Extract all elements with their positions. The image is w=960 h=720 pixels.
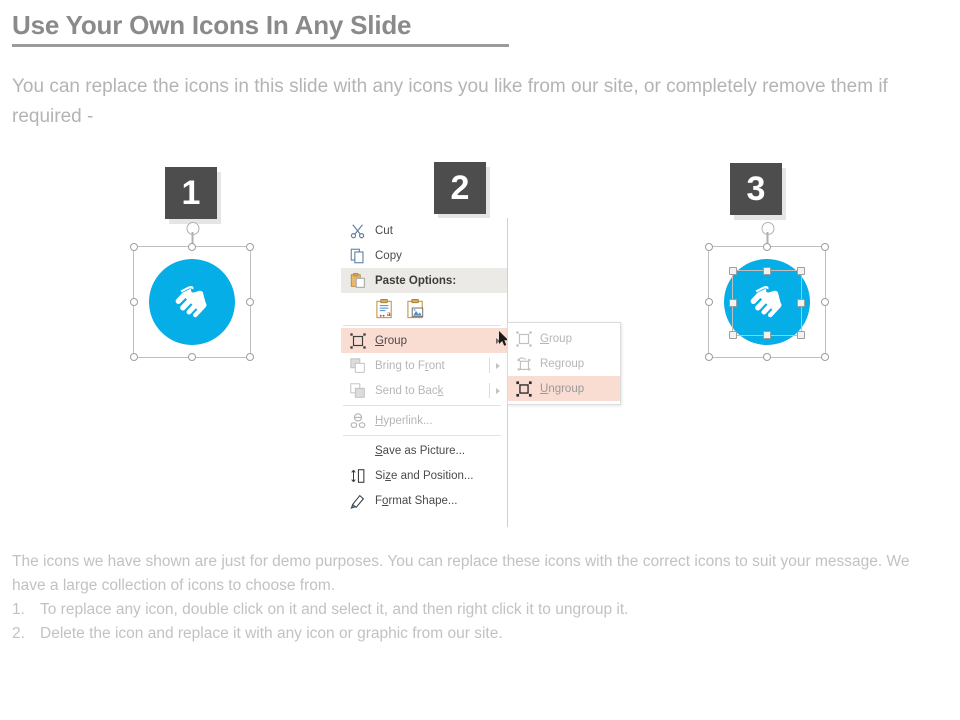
menu-item-paste-options[interactable]: Paste Options: xyxy=(341,268,507,293)
paste-keep-text-only-icon[interactable]: a xyxy=(375,298,396,319)
footer-list-number: 2. xyxy=(12,622,40,646)
footer-list-number: 1. xyxy=(12,598,40,622)
menu-item-bring-to-front[interactable]: Bring to Front xyxy=(341,353,507,378)
footer-list-text: Delete the icon and replace it with any … xyxy=(40,622,944,646)
footer-list-item: 1. To replace any icon, double click on … xyxy=(12,598,944,622)
selection-box-inner[interactable] xyxy=(732,270,802,336)
footer-paragraph: The icons we have shown are just for dem… xyxy=(12,550,944,598)
menu-divider xyxy=(343,325,501,326)
menu-item-label: Copy xyxy=(375,250,402,262)
resize-handle-bottom-center[interactable] xyxy=(188,353,196,361)
resize-handle-bottom-center[interactable] xyxy=(763,353,771,361)
resize-handle-top-left[interactable] xyxy=(130,243,138,251)
selection-box-outer[interactable] xyxy=(133,246,251,358)
menu-item-label: Bring to Front xyxy=(375,360,445,372)
step-badge-1: 1 xyxy=(165,167,217,219)
footer-notes: The icons we have shown are just for dem… xyxy=(12,550,944,646)
resize-handle-top-center[interactable] xyxy=(188,243,196,251)
menu-item-cut[interactable]: Cut xyxy=(341,218,507,243)
footer-list-item: 2. Delete the icon and replace it with a… xyxy=(12,622,944,646)
footer-list-text: To replace any icon, double click on it … xyxy=(40,598,944,622)
inner-handle-bottom-left[interactable] xyxy=(729,331,737,339)
title-underline xyxy=(12,44,509,47)
hyperlink-icon xyxy=(349,412,367,430)
resize-handle-bottom-right[interactable] xyxy=(246,353,254,361)
menu-item-send-to-back[interactable]: Send to Back xyxy=(341,378,507,403)
submenu-item-ungroup[interactable]: Ungroup xyxy=(508,376,620,401)
submenu-item-group[interactable]: Group xyxy=(508,326,620,351)
resize-handle-bottom-left[interactable] xyxy=(705,353,713,361)
group-icon xyxy=(349,332,367,350)
step-badge-3: 3 xyxy=(730,163,782,215)
context-menu[interactable]: Cut Copy Paste Options: xyxy=(341,218,508,527)
step-badge-2: 2 xyxy=(434,162,486,214)
menu-item-label: Paste Options: xyxy=(375,275,456,287)
rotation-handle-circle xyxy=(187,222,200,235)
resize-handle-middle-right[interactable] xyxy=(821,298,829,306)
submenu-arrow-icon xyxy=(496,363,500,369)
menu-item-label: Group xyxy=(375,335,407,347)
scissors-icon xyxy=(349,222,367,240)
page-subtitle: You can replace the icons in this slide … xyxy=(12,72,956,132)
group-submenu[interactable]: Group Regroup Ungroup xyxy=(507,322,621,405)
menu-item-label: Hyperlink... xyxy=(375,415,433,427)
resize-handle-top-center[interactable] xyxy=(763,243,771,251)
group-icon xyxy=(515,330,533,348)
menu-item-hyperlink[interactable]: Hyperlink... xyxy=(341,408,507,433)
icon-group-3[interactable] xyxy=(708,222,828,360)
submenu-arrow-icon xyxy=(496,388,500,394)
resize-handle-bottom-right[interactable] xyxy=(821,353,829,361)
resize-handle-middle-right[interactable] xyxy=(246,298,254,306)
resize-handle-middle-left[interactable] xyxy=(130,298,138,306)
inner-handle-bottom-right[interactable] xyxy=(797,331,805,339)
slide-canvas: Use Your Own Icons In Any Slide You can … xyxy=(0,0,960,720)
inner-handle-top-left[interactable] xyxy=(729,267,737,275)
svg-text:a: a xyxy=(387,309,391,318)
icon-group-1[interactable] xyxy=(133,222,253,360)
paste-picture-icon[interactable] xyxy=(406,298,427,319)
submenu-item-label: Group xyxy=(540,333,572,345)
menu-item-label: Size and Position... xyxy=(375,470,473,482)
inner-handle-middle-right[interactable] xyxy=(797,299,805,307)
send-to-back-icon xyxy=(349,382,367,400)
copy-icon xyxy=(349,247,367,265)
inner-handle-top-center[interactable] xyxy=(763,267,771,275)
size-position-icon xyxy=(349,467,367,485)
menu-item-label: Cut xyxy=(375,225,393,237)
paste-icon xyxy=(349,272,367,290)
menu-item-save-as-picture[interactable]: Save as Picture... xyxy=(341,438,507,463)
menu-item-label: Format Shape... xyxy=(375,495,457,507)
menu-item-separator xyxy=(489,358,490,373)
regroup-icon xyxy=(515,355,533,373)
resize-handle-top-left[interactable] xyxy=(705,243,713,251)
menu-item-copy[interactable]: Copy xyxy=(341,243,507,268)
menu-item-label: Save as Picture... xyxy=(375,445,465,457)
inner-handle-bottom-center[interactable] xyxy=(763,331,771,339)
page-title: Use Your Own Icons In Any Slide xyxy=(12,10,411,41)
submenu-item-label: Regroup xyxy=(540,358,584,370)
inner-handle-middle-left[interactable] xyxy=(729,299,737,307)
menu-divider xyxy=(343,405,501,406)
resize-handle-middle-left[interactable] xyxy=(705,298,713,306)
resize-handle-top-right[interactable] xyxy=(246,243,254,251)
submenu-item-regroup[interactable]: Regroup xyxy=(508,351,620,376)
paste-options-row[interactable]: a xyxy=(341,293,507,323)
menu-item-separator xyxy=(489,383,490,398)
resize-handle-bottom-left[interactable] xyxy=(130,353,138,361)
bring-to-front-icon xyxy=(349,357,367,375)
ungroup-icon xyxy=(515,380,533,398)
submenu-item-label: Ungroup xyxy=(540,383,584,395)
menu-item-label: Send to Back xyxy=(375,385,443,397)
inner-handle-top-right[interactable] xyxy=(797,267,805,275)
menu-item-group[interactable]: Group xyxy=(341,328,507,353)
menu-item-format-shape[interactable]: Format Shape... xyxy=(341,488,507,513)
format-shape-icon xyxy=(349,492,367,510)
menu-item-size-and-position[interactable]: Size and Position... xyxy=(341,463,507,488)
resize-handle-top-right[interactable] xyxy=(821,243,829,251)
menu-divider xyxy=(343,435,501,436)
rotation-handle-circle xyxy=(762,222,775,235)
